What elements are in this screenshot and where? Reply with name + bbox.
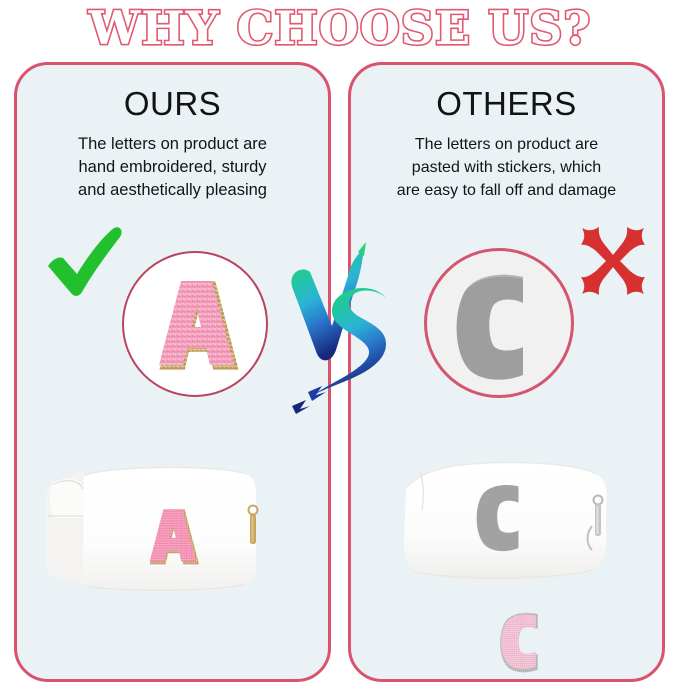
title-text: WHY CHOOSE US? [20, 3, 660, 57]
check-icon [46, 226, 124, 303]
vs-badge [282, 240, 402, 420]
panel-ours-body: The letters on product are hand embroide… [31, 133, 314, 202]
product-bag-ours [40, 452, 290, 617]
chenille-patch-a [124, 253, 266, 395]
fallen-patch-c [482, 598, 554, 681]
panel-others-body: The letters on product are pasted with s… [365, 133, 648, 202]
patch-circle-ours [122, 251, 268, 397]
page-title: WHY CHOOSE US? [0, 2, 679, 58]
panel-ours-heading: OURS [17, 85, 328, 123]
product-bag-others [392, 452, 632, 597]
comparison-infographic: WHY CHOOSE US? OURS The letters on produ… [0, 0, 679, 689]
panel-others-heading: OTHERS [351, 85, 662, 123]
svg-text:WHY CHOOSE US?: WHY CHOOSE US? [87, 3, 591, 55]
patch-circle-others [424, 248, 574, 398]
cross-icon [576, 224, 650, 303]
gray-sticker-c [427, 251, 571, 395]
